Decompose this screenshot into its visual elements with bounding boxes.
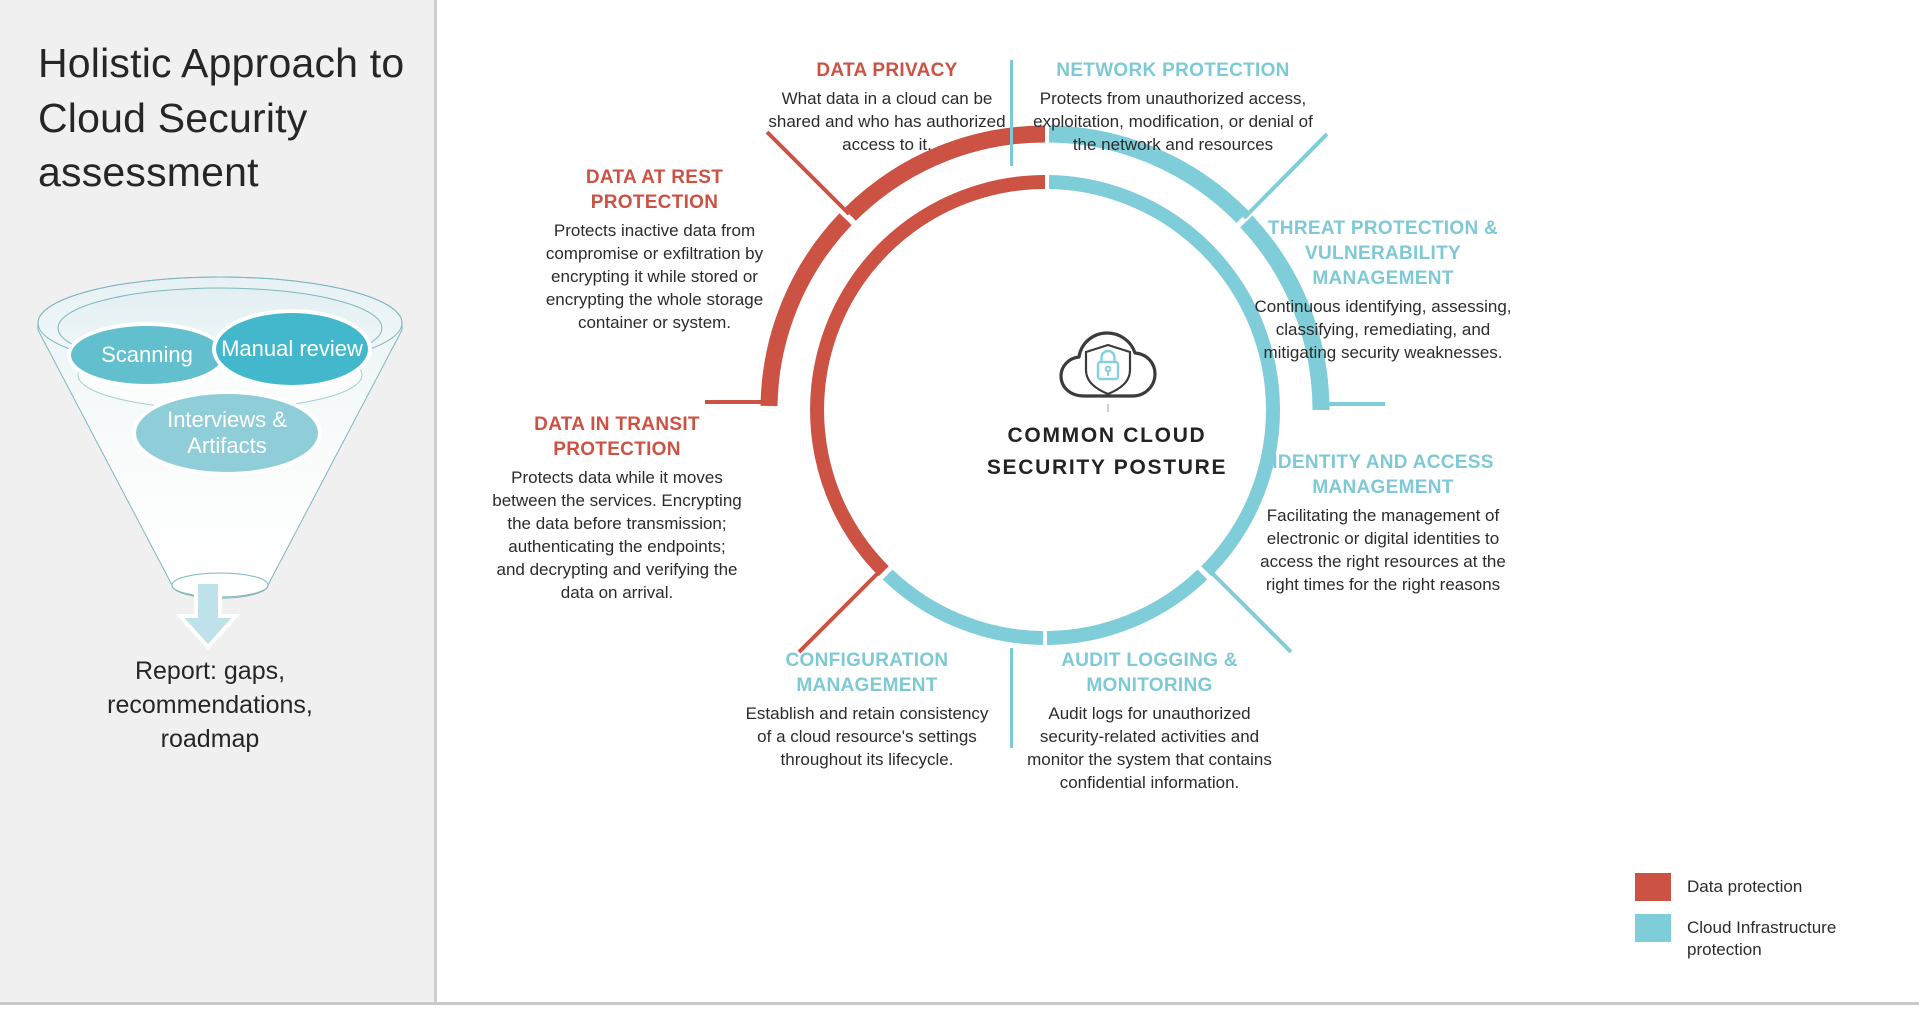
segment-configuration-management[interactable]: CONFIGURATION MANAGEMENT Establish and r…: [742, 648, 992, 772]
funnel-bubble-scanning[interactable]: Scanning: [67, 322, 227, 388]
segment-title: NETWORK PROTECTION: [1023, 58, 1323, 83]
legend-swatch-icon: [1635, 873, 1671, 901]
legend-label: Data protection: [1687, 873, 1802, 898]
separator-bottom: [1010, 648, 1013, 748]
leader-line-data-in-transit: [799, 570, 881, 652]
funnel-bubble-label: Interviews & Artifacts: [136, 407, 318, 459]
segment-identity-access-management[interactable]: IDENTITY AND ACCESS MANAGEMENT Facilitat…: [1252, 450, 1514, 597]
segment-title: CONFIGURATION MANAGEMENT: [742, 648, 992, 698]
funnel-bubble-label: Manual review: [221, 336, 363, 362]
infographic-canvas: Holistic Approach to Cloud Security asse…: [0, 0, 1919, 1015]
legend-item-cloud-infrastructure-protection: Cloud Infrastructure protection: [1635, 914, 1875, 961]
segment-data-in-transit-protection[interactable]: DATA IN TRANSIT PROTECTION Protects data…: [492, 412, 742, 605]
segment-title: DATA IN TRANSIT PROTECTION: [492, 412, 742, 462]
funnel-output-label: Report: gaps, recommendations, roadmap: [60, 655, 360, 756]
arc-configuration-management: [888, 575, 1043, 639]
segment-body: Continuous identifying, assessing, class…: [1252, 296, 1514, 365]
legend-swatch-icon: [1635, 914, 1671, 942]
segment-title: IDENTITY AND ACCESS MANAGEMENT: [1252, 450, 1514, 500]
segment-threat-protection[interactable]: THREAT PROTECTION & VULNERABILITY MANAGE…: [1252, 216, 1514, 365]
left-panel: Holistic Approach to Cloud Security asse…: [0, 0, 434, 1002]
segment-body: Audit logs for unauthorized security-rel…: [1017, 703, 1282, 795]
bottom-rule: [0, 1002, 1919, 1005]
separator-top: [1010, 60, 1013, 166]
segment-body: Protects data while it moves between the…: [492, 467, 742, 605]
funnel-bubble-manual-review[interactable]: Manual review: [212, 309, 372, 389]
segment-data-privacy[interactable]: DATA PRIVACY What data in a cloud can be…: [767, 58, 1007, 157]
cloud-lock-shield-icon: [1054, 320, 1162, 412]
page-title: Holistic Approach to Cloud Security asse…: [38, 36, 418, 200]
funnel-bubble-interviews-artifacts[interactable]: Interviews & Artifacts: [132, 390, 322, 476]
funnel-bubble-label: Scanning: [101, 342, 193, 368]
segment-title: DATA AT REST PROTECTION: [532, 165, 777, 215]
arc-audit-logging: [1047, 575, 1202, 639]
segment-body: Establish and retain consistency of a cl…: [742, 703, 992, 772]
segment-title: DATA PRIVACY: [767, 58, 1007, 83]
segment-audit-logging-monitoring[interactable]: AUDIT LOGGING & MONITORING Audit logs fo…: [1017, 648, 1282, 795]
segment-body: Protects from unauthorized access, explo…: [1023, 88, 1323, 157]
segment-data-at-rest-protection[interactable]: DATA AT REST PROTECTION Protects inactiv…: [532, 165, 777, 335]
segment-body: Protects inactive data from compromise o…: [532, 220, 777, 335]
legend-label: Cloud Infrastructure protection: [1687, 914, 1875, 961]
legend-item-data-protection: Data protection: [1635, 873, 1875, 901]
segment-title: THREAT PROTECTION & VULNERABILITY MANAGE…: [1252, 216, 1514, 291]
cloud-security-wheel: COMMON CLOUD SECURITY POSTURE DATA PRIVA…: [437, 0, 1919, 1002]
segment-body: Facilitating the management of electroni…: [1252, 505, 1514, 597]
down-arrow-icon: [176, 580, 240, 650]
segment-title: AUDIT LOGGING & MONITORING: [1017, 648, 1282, 698]
legend: Data protection Cloud Infrastructure pro…: [1635, 873, 1875, 974]
segment-network-protection[interactable]: NETWORK PROTECTION Protects from unautho…: [1023, 58, 1323, 157]
center-label: COMMON CLOUD SECURITY POSTURE: [977, 420, 1237, 484]
arc-data-in-transit: [817, 182, 1045, 571]
segment-body: What data in a cloud can be shared and w…: [767, 88, 1007, 157]
